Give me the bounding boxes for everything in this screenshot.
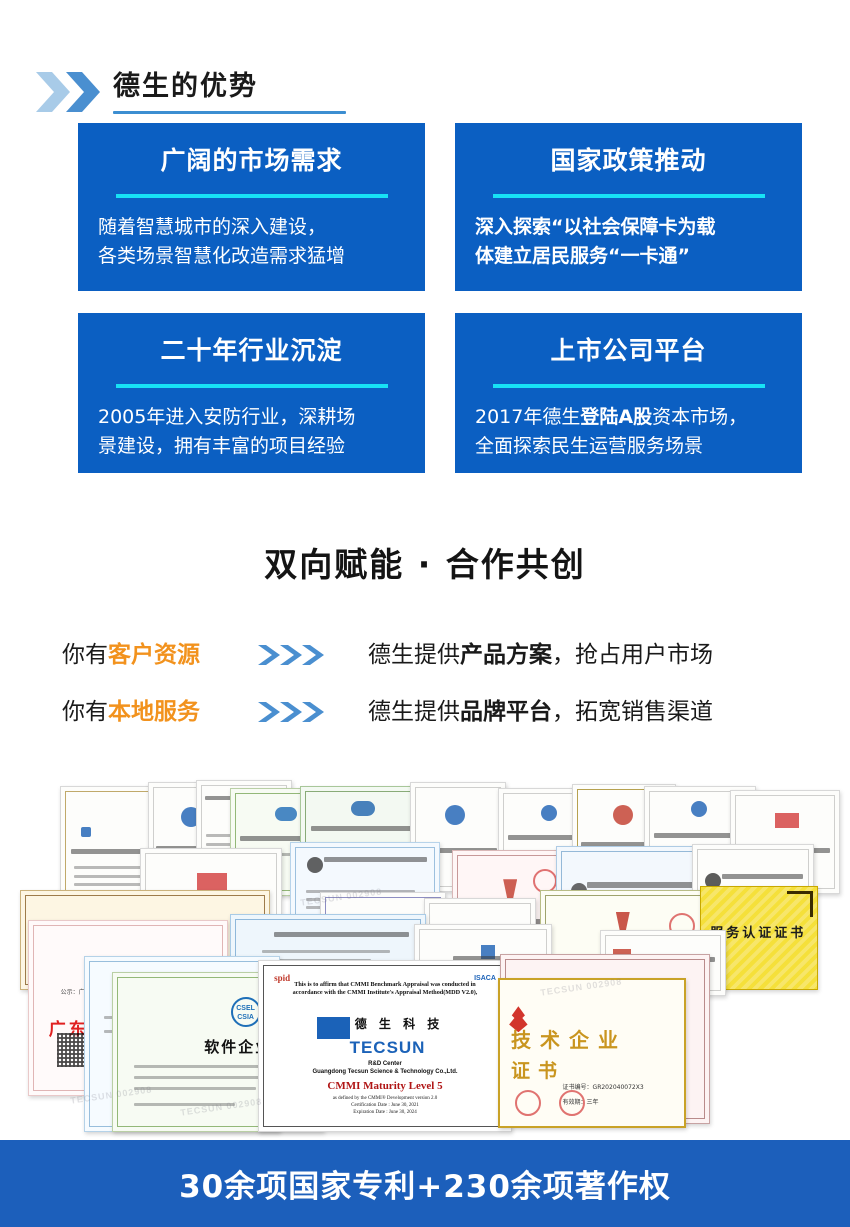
cmmi-company: Guangdong Tecsun Science & Technology Co… — [312, 1069, 457, 1075]
value-left-prefix: 你有 — [62, 699, 108, 725]
value-row-right: 德生提供产品方案，抢占用户市场 — [368, 634, 713, 676]
card-body-emphasis: 登陆A股 — [580, 406, 652, 428]
value-right-prefix: 德生提供 — [368, 699, 460, 725]
card-title: 国家政策推动 — [475, 145, 782, 177]
card-body-line: 体建立居民服务“一卡通” — [475, 242, 782, 271]
page-title: 德生的优势 — [113, 70, 258, 104]
section-header: 德生的优势 — [0, 30, 850, 96]
value-row-right: 德生提供品牌平台，拓宽销售渠道 — [368, 691, 713, 733]
card-body: 深入探索“以社会保障卡为载 体建立居民服务“一卡通” — [475, 213, 782, 271]
cmmi-dates: as defined by the CMMI® Development vers… — [279, 1095, 491, 1116]
cmmi-cert-date: Certification Date : June 30, 2021 — [351, 1103, 419, 1108]
card-body: 2017年德生登陆A股资本市场， 全面探索民生运营服务场景 — [475, 403, 782, 461]
csel-badge-icon: CSELCSIA — [231, 997, 261, 1027]
triple-chevron-icon — [258, 643, 338, 667]
card-body-line: 2005年进入安防行业，深耕场 — [98, 403, 405, 432]
advantage-card: 广阔的市场需求 随着智慧城市的深入建设， 各类场景智慧化改造需求猛增 — [78, 123, 425, 291]
value-right-suffix: ，抢占用户市场 — [552, 642, 713, 668]
chevron-right-light-icon — [36, 72, 70, 112]
card-title: 广阔的市场需求 — [98, 145, 405, 177]
card-body: 2005年进入安防行业，深耕场 景建设，拥有丰富的项目经验 — [98, 403, 405, 461]
title-underline — [113, 111, 346, 114]
card-body-line: 全面探索民生运营服务场景 — [475, 432, 782, 461]
value-row-left: 你有本地服务 — [62, 691, 200, 733]
cmmi-affirm-text: This is to affirm that CMMI Benchmark Ap… — [277, 981, 494, 997]
cmmi-line2: accordance with the CMMI Institute's App… — [293, 989, 478, 996]
chevron-pair — [36, 72, 110, 112]
tecsun-brand-zh: 德 生 科 技 — [355, 1015, 444, 1032]
card-body-text: 资本市场， — [652, 406, 747, 428]
card-body-line: 随着智慧城市的深入建设， — [98, 213, 405, 242]
tecsun-brand-latin: TECSUN — [319, 1038, 455, 1058]
card-body-line: 2017年德生登陆A股资本市场， — [475, 403, 782, 432]
advantage-card: 国家政策推动 深入探索“以社会保障卡为载 体建立居民服务“一卡通” — [455, 123, 802, 291]
cmmi-level: CMMI Maturity Level 5 — [274, 1080, 496, 1092]
chevron-right-dark-icon — [66, 72, 100, 112]
certificate-collage: 防伪技术评审证书 实用新型专利证书 服务认证证书 公示：广 广东 — [0, 772, 850, 1140]
value-row: 你有本地服务 德生提供品牌平台，拓宽销售渠道 — [0, 691, 850, 733]
certificate-hi-tech-enterprise: 技术企业 证书 证书编号：GR202040072X3 有效期：三年 — [498, 978, 686, 1128]
tecsun-logo-mark — [317, 1017, 350, 1039]
cert-title-2: 证书 — [511, 1056, 565, 1083]
value-row: 你有客户资源 德生提供产品方案，抢占用户市场 — [0, 634, 850, 676]
cmmi-exp-date: Expiration Date : June 30, 2024 — [353, 1110, 417, 1115]
card-title: 上市公司平台 — [475, 335, 782, 367]
value-left-highlight: 本地服务 — [108, 699, 200, 725]
card-body-text: 2017年德生 — [475, 406, 580, 428]
cert-note: 公示：广 — [61, 987, 85, 996]
card-body: 随着智慧城市的深入建设， 各类场景智慧化改造需求猛增 — [98, 213, 405, 271]
certificate-cmmi-level5: spid ISACA This is to affirm that CMMI B… — [258, 960, 512, 1132]
cmmi-unit: R&D Center — [368, 1061, 402, 1067]
promo-page: 德生的优势 广阔的市场需求 随着智慧城市的深入建设， 各类场景智慧化改造需求猛增… — [0, 0, 850, 1227]
value-left-highlight: 客户资源 — [108, 642, 200, 668]
value-right-suffix: ，拓宽销售渠道 — [552, 699, 713, 725]
card-body-line: 深入探索“以社会保障卡为载 — [475, 213, 782, 242]
banner-text: 30余项国家专利+230余项著作权 — [179, 1161, 671, 1206]
value-left-prefix: 你有 — [62, 642, 108, 668]
advantage-card: 上市公司平台 2017年德生登陆A股资本市场， 全面探索民生运营服务场景 — [455, 313, 802, 473]
cmmi-line1: This is to affirm that CMMI Benchmark Ap… — [294, 981, 476, 988]
bottom-banner: 30余项国家专利+230余项著作权 — [0, 1140, 850, 1227]
section-subtitle: 双向赋能 · 合作共创 — [0, 543, 850, 587]
cmmi-unit-company: R&D Center Guangdong Tecsun Science & Te… — [274, 1060, 496, 1076]
card-body-line: 景建设，拥有丰富的项目经验 — [98, 432, 405, 461]
value-row-left: 你有客户资源 — [62, 634, 200, 676]
card-title: 二十年行业沉淀 — [98, 335, 405, 367]
triple-chevron-icon — [258, 700, 338, 724]
card-divider — [116, 194, 388, 198]
card-body-line: 各类场景智慧化改造需求猛增 — [98, 242, 405, 271]
cert-title: 技术企业 — [511, 1024, 627, 1053]
corner-ornament-icon — [787, 891, 813, 917]
advantage-card: 二十年行业沉淀 2005年进入安防行业，深耕场 景建设，拥有丰富的项目经验 — [78, 313, 425, 473]
cmmi-defined: as defined by the CMMI® Development vers… — [333, 1096, 438, 1101]
value-right-prefix: 德生提供 — [368, 642, 460, 668]
card-divider — [493, 384, 765, 388]
card-divider — [116, 384, 388, 388]
value-right-bold: 产品方案 — [460, 642, 552, 668]
value-right-bold: 品牌平台 — [460, 699, 552, 725]
card-divider — [493, 194, 765, 198]
